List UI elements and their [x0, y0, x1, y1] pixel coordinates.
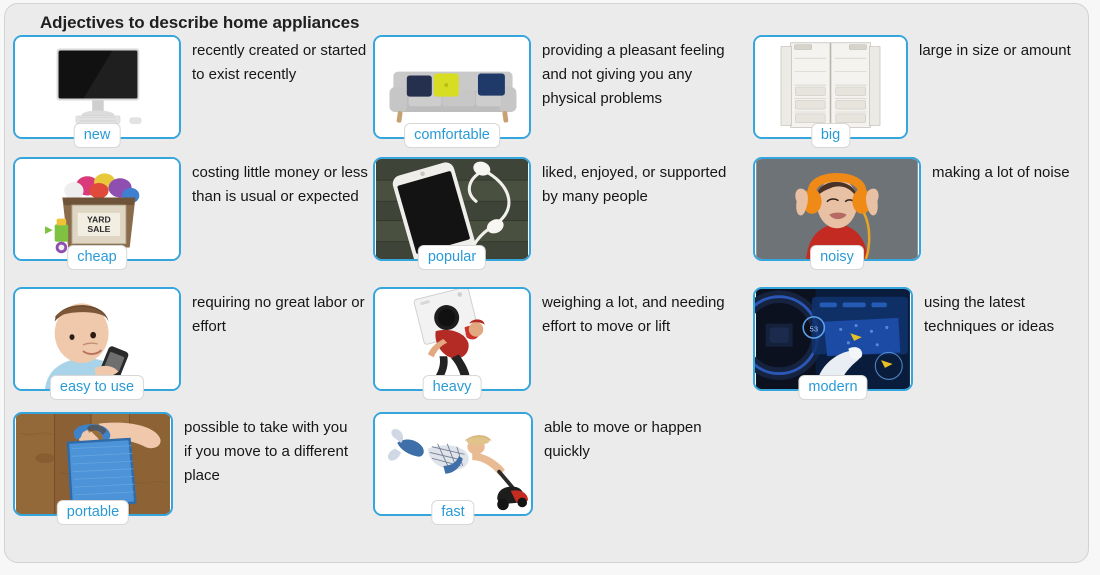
adjective-label-new[interactable]: new: [74, 123, 121, 149]
image-card-portable[interactable]: portable: [13, 412, 173, 516]
adjective-label-cheap[interactable]: cheap: [67, 245, 127, 271]
adjective-row: new recently created or started to exist…: [5, 35, 1090, 157]
adjective-entry-heavy: heavy weighing a lot, and needing effort…: [368, 287, 731, 391]
adjective-description-comfortable: providing a pleasant feeling and not giv…: [531, 35, 731, 111]
adjective-description-cheap: costing little money or less than is usu…: [181, 157, 368, 209]
adjective-entry-popular: popular liked, enjoyed, or supported by …: [368, 157, 731, 261]
image-card-noisy[interactable]: noisy: [753, 157, 921, 261]
adjective-row: portable possible to take with you if yo…: [5, 412, 1090, 542]
adjective-entry-fast: fast able to move or happen quickly: [368, 412, 731, 516]
image-card-new[interactable]: new: [13, 35, 181, 139]
adjectives-grid: new recently created or started to exist…: [5, 35, 1090, 542]
image-card-modern[interactable]: 53 modern: [753, 287, 913, 391]
adjective-label-popular[interactable]: popular: [418, 245, 486, 271]
svg-text:SALE: SALE: [87, 224, 110, 234]
adjective-row: easy to use requiring no great labor or …: [5, 287, 1090, 412]
adjective-label-portable[interactable]: portable: [57, 500, 129, 526]
svg-text:53: 53: [809, 324, 818, 333]
adjective-entry-big: big large in size or amount: [731, 35, 1090, 139]
adjective-description-popular: liked, enjoyed, or supported by many peo…: [531, 157, 727, 209]
adjective-entry-comfortable: comfortable providing a pleasant feeling…: [368, 35, 731, 139]
adjective-description-new: recently created or started to exist rec…: [181, 35, 368, 87]
adjective-label-big[interactable]: big: [811, 123, 850, 149]
adjective-label-noisy[interactable]: noisy: [810, 245, 864, 271]
adjective-entry-easy-to-use: easy to use requiring no great labor or …: [5, 287, 368, 391]
adjective-entry-cheap: YARD SALE: [5, 157, 368, 261]
adjective-description-fast: able to move or happen quickly: [533, 412, 729, 464]
image-card-heavy[interactable]: heavy: [373, 287, 531, 391]
adjective-description-noisy: making a lot of noise: [921, 157, 1070, 185]
adjective-label-heavy[interactable]: heavy: [423, 375, 482, 401]
adjective-label-modern[interactable]: modern: [798, 375, 867, 401]
adjective-entry-new: new recently created or started to exist…: [5, 35, 368, 139]
adjective-description-big: large in size or amount: [908, 35, 1071, 63]
adjective-label-comfortable[interactable]: comfortable: [404, 123, 500, 149]
page-title: Adjectives to describe home appliances: [40, 13, 359, 33]
adjective-description-modern: using the latest techniques or ideas: [913, 287, 1090, 339]
adjective-label-fast[interactable]: fast: [431, 500, 474, 526]
adjective-entry-noisy: noisy making a lot of noise: [731, 157, 1090, 261]
image-card-cheap[interactable]: YARD SALE: [13, 157, 181, 261]
adjective-description-portable: possible to take with you if you move to…: [173, 412, 356, 488]
adjective-label-easy-to-use[interactable]: easy to use: [50, 375, 144, 401]
adjectives-panel: Adjectives to describe home appliances: [4, 3, 1089, 563]
adjective-description-heavy: weighing a lot, and needing effort to mo…: [531, 287, 731, 339]
image-card-big[interactable]: big: [753, 35, 908, 139]
adjective-description-easy-to-use: requiring no great labor or effort: [181, 287, 368, 339]
adjective-entry-modern: 53 modern using the latest techniques or…: [731, 287, 1090, 391]
adjective-row: YARD SALE: [5, 157, 1090, 287]
image-card-comfortable[interactable]: comfortable: [373, 35, 531, 139]
svg-text:YARD: YARD: [87, 214, 111, 224]
image-card-fast[interactable]: fast: [373, 412, 533, 516]
image-card-easy-to-use[interactable]: easy to use: [13, 287, 181, 391]
image-card-popular[interactable]: popular: [373, 157, 531, 261]
adjective-entry-portable: portable possible to take with you if yo…: [5, 412, 368, 516]
